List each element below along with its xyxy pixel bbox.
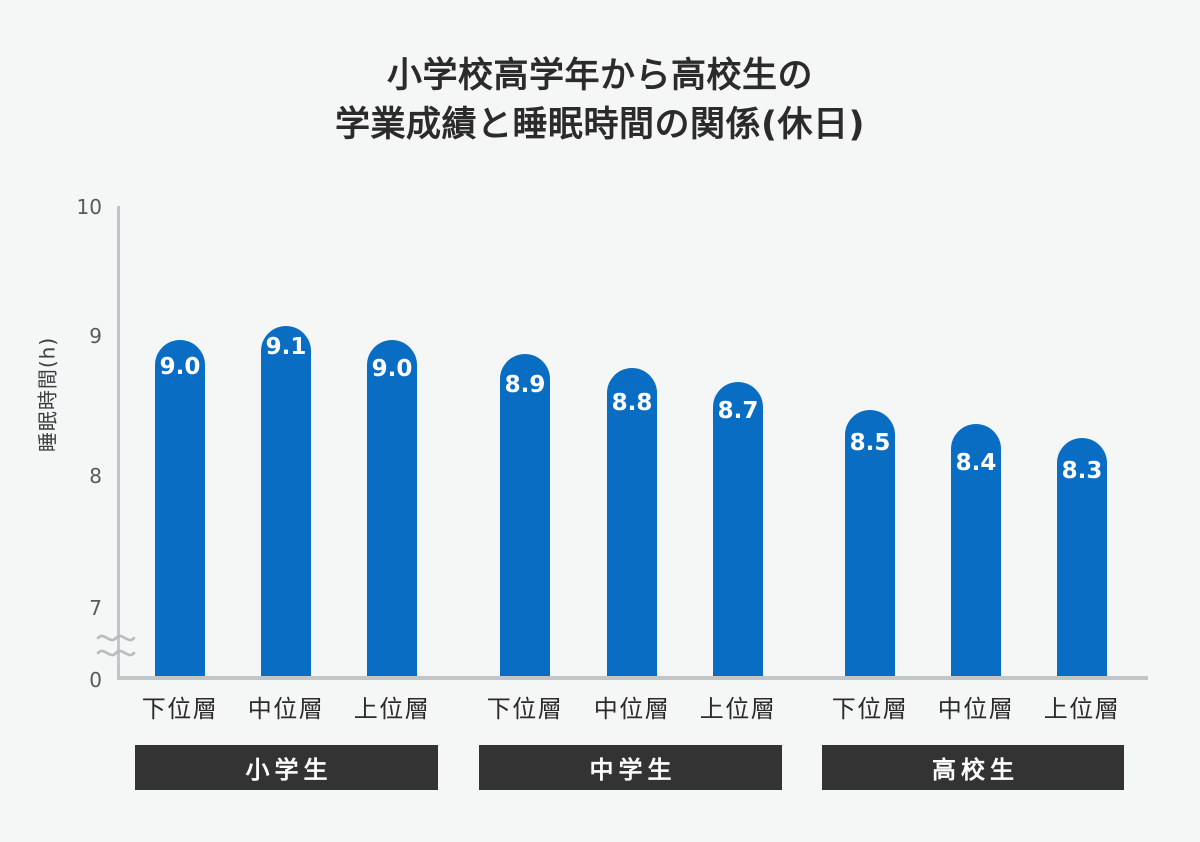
- bar-value-group2-lower: 8.9: [500, 374, 550, 397]
- bar-value-group3-lower: 8.5: [845, 432, 895, 455]
- bar-value-group3-middle: 8.4: [951, 452, 1001, 475]
- y-tick-label-10: 10: [62, 197, 102, 217]
- bar-value-group1-lower: 9.0: [155, 356, 205, 379]
- sleep-duration-bar-chart: 小学校高学年から高校生の 学業成績と睡眠時間の関係(休日) 睡眠時間(h) 10…: [0, 0, 1200, 842]
- tier-label-group2-upper: 上位層: [683, 695, 793, 723]
- y-axis-title: 睡眠時間(h): [32, 285, 61, 505]
- group-band-highschool: 高校生: [822, 745, 1124, 790]
- group-band-label-elementary: 小学生: [241, 750, 333, 785]
- group-band-elementary: 小学生: [135, 745, 438, 790]
- bar-group1-middle: [261, 326, 311, 676]
- x-axis-line: [117, 676, 1148, 680]
- tier-label-group1-lower: 下位層: [125, 695, 235, 723]
- bar-group2-upper: [713, 382, 763, 676]
- y-tick-label-0: 0: [62, 670, 102, 690]
- tier-label-group3-upper: 上位層: [1027, 695, 1137, 723]
- group-band-label-highschool: 高校生: [927, 750, 1019, 785]
- group-band-label-juniorhigh: 中学生: [585, 750, 677, 785]
- bar-value-group1-upper: 9.0: [367, 358, 417, 381]
- tier-label-group3-middle: 中位層: [921, 695, 1031, 723]
- y-tick-label-9: 9: [62, 326, 102, 346]
- group-band-juniorhigh: 中学生: [479, 745, 782, 790]
- bar-value-group3-upper: 8.3: [1057, 460, 1107, 483]
- tier-label-group3-lower: 下位層: [815, 695, 925, 723]
- bar-group1-upper: [367, 340, 417, 676]
- bar-value-group2-upper: 8.7: [713, 400, 763, 423]
- tier-label-group1-middle: 中位層: [231, 695, 341, 723]
- tier-label-group1-upper: 上位層: [337, 695, 447, 723]
- y-tick-label-7: 7: [62, 598, 102, 618]
- tier-label-group2-lower: 下位層: [470, 695, 580, 723]
- plot-area: 睡眠時間(h) 10 9 8 7 0 9.0 9.1 9.0 8.9 8.8 8…: [0, 0, 1200, 842]
- y-axis-line: [117, 206, 120, 678]
- bar-group2-lower: [500, 354, 550, 676]
- bar-group1-lower: [155, 340, 205, 676]
- tier-label-group2-middle: 中位層: [577, 695, 687, 723]
- bar-value-group2-middle: 8.8: [607, 392, 657, 415]
- y-tick-label-8: 8: [62, 466, 102, 486]
- axis-break-icon: [96, 626, 140, 668]
- bar-value-group1-middle: 9.1: [261, 336, 311, 359]
